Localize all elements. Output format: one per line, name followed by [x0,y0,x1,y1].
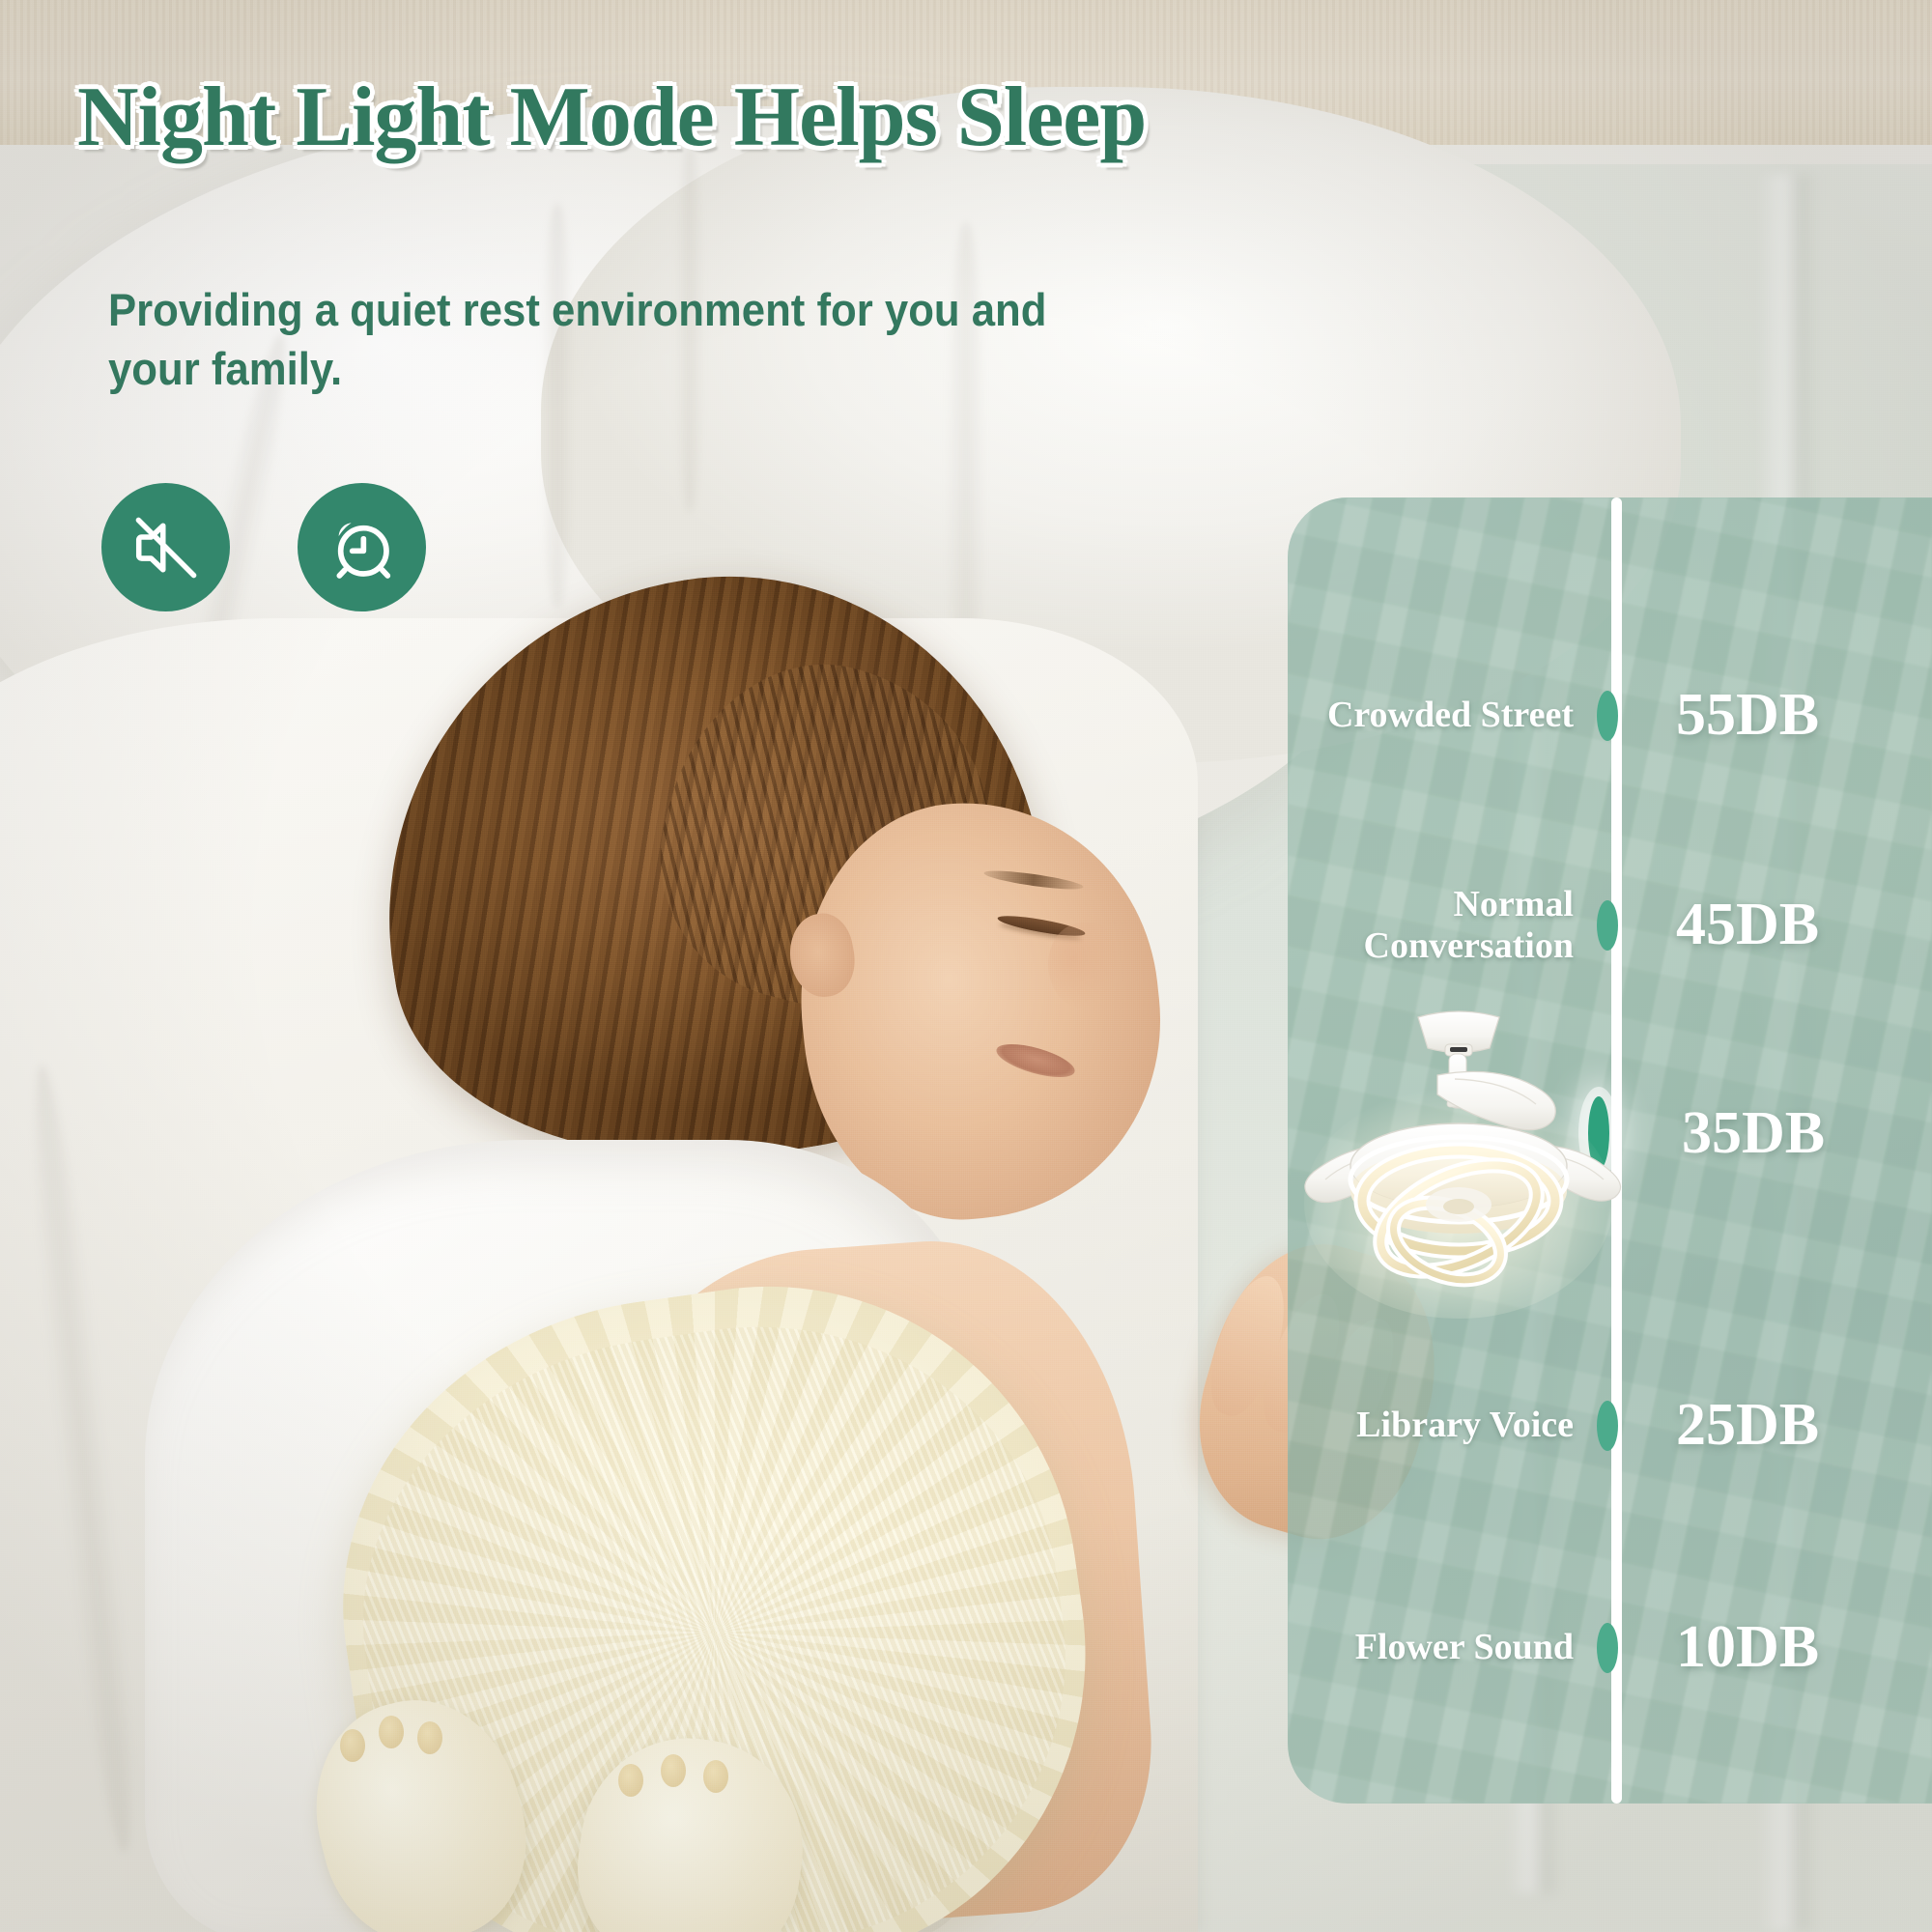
db-row-value: 45DB [1628,891,1819,959]
db-row-normal-conversation[interactable]: NormalConversation 45DB [1288,884,1932,966]
db-row-flower-sound[interactable]: Flower Sound 10DB [1288,1613,1932,1682]
page-subtitle: Providing a quiet rest environment for y… [108,280,1061,398]
page-title: Night Light Mode Helps Sleep [77,75,1146,160]
db-row-value: 10DB [1628,1613,1819,1682]
ceiling-fan-light-product-image [1285,1000,1633,1328]
db-row-label: Flower Sound [1288,1627,1606,1668]
db-row-label: Crowded Street [1288,695,1606,736]
db-row-label: NormalConversation [1288,884,1606,966]
db-marker-dot [1597,1401,1618,1451]
db-row-label: Library Voice [1288,1405,1606,1446]
feature-icon-row [101,483,426,611]
mute-icon [128,510,204,585]
db-row-value: 35DB [1628,1099,1825,1168]
db-marker-cell [1606,691,1628,741]
db-row-value: 25DB [1628,1391,1819,1460]
db-marker-cell [1606,900,1628,951]
mute-icon-badge[interactable] [101,483,230,611]
db-marker-dot [1597,691,1618,741]
db-marker-cell [1606,1401,1628,1451]
db-marker-cell [1606,1623,1628,1673]
db-row-crowded-street[interactable]: Crowded Street 55DB [1288,681,1932,750]
db-row-library-voice[interactable]: Library Voice 25DB [1288,1391,1932,1460]
db-row-value: 55DB [1628,681,1819,750]
alarm-clock-icon [324,509,401,586]
db-marker-dot [1597,1623,1618,1673]
alarm-clock-icon-badge[interactable] [298,483,426,611]
db-marker-dot [1597,900,1618,951]
